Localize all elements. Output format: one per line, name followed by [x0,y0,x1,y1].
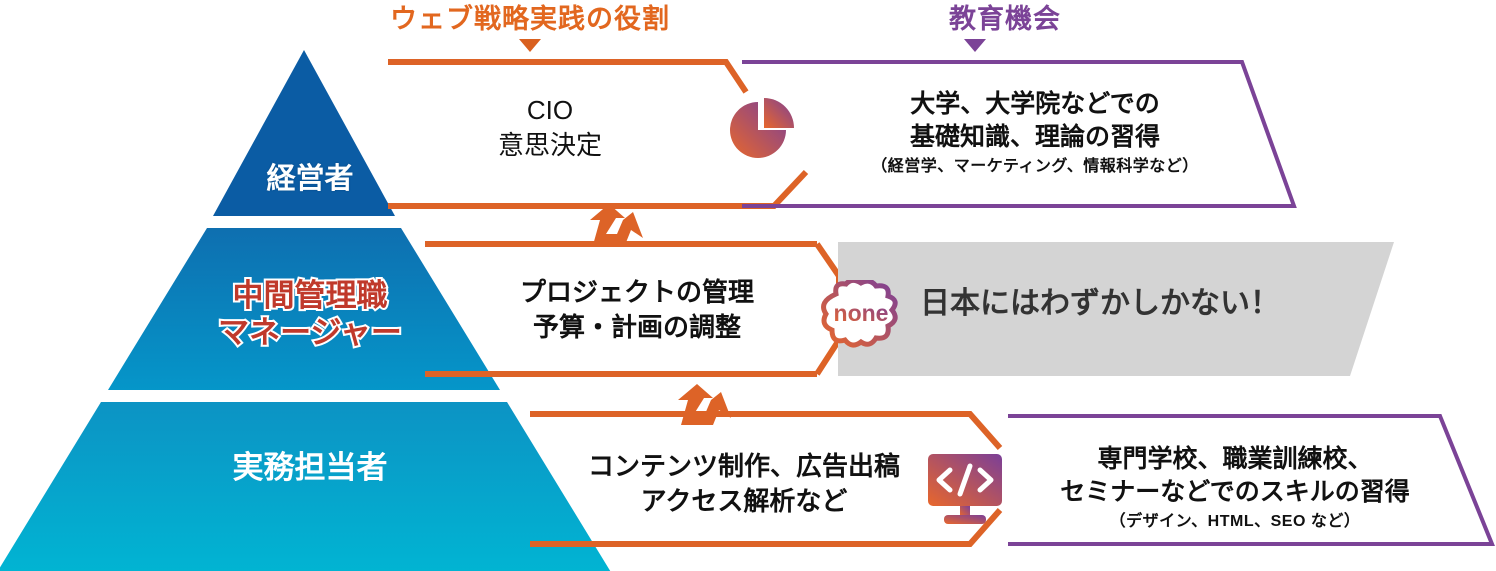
education-text-row-1-line1: 大学、大学院などでの [910,90,1160,118]
down-caret-icon-education [964,39,986,52]
education-note-row-1: （経営学、マーケティング、情報科学など） [820,157,1250,178]
none-cloud-icon: none [816,280,908,350]
education-note-row-3: （デザイン、HTML、SEO など） [1000,512,1470,533]
role-text-row-1-line2: 意思決定 [498,130,602,160]
code-monitor-icon [926,452,1004,526]
role-text-row-3-line2: アクセス解析など [641,486,848,516]
education-text-row-2: 日本にはわずかしかない！ [920,289,1280,319]
column-header-education: 教育機会 [880,6,1130,33]
pyramid-tier-middle-label-line1: 中間管理職 [233,278,388,313]
role-text-row-3-line1: コンテンツ制作、広告出稿 [588,451,900,481]
education-text-row-3-line2: セミナーなどでのスキルの習得 [1060,478,1410,506]
pyramid-tier-bottom-label: 実務担当者 [0,450,620,487]
role-text-row-2-line1: プロジェクトの管理 [520,277,754,307]
role-text-row-3: コンテンツ制作、広告出稿 アクセス解析など [548,449,940,519]
role-text-row-1: CIO 意思決定 [400,93,700,163]
pie-chart-icon [724,94,796,166]
education-text-row-3-line1: 専門学校、職業訓練校、 [1097,445,1372,473]
education-text-row-1: 大学、大学院などでの 基礎知識、理論の習得 （経営学、マーケティング、情報科学な… [820,88,1250,178]
svg-text:none: none [834,300,889,326]
pyramid-tier-middle-label-line2: マネージャー [218,315,402,350]
diagram-canvas: ウェブ戦略実践の役割 教育機会 経営者 中 [0,0,1496,571]
education-text-row-3: 専門学校、職業訓練校、 セミナーなどでのスキルの習得 （デザイン、HTML、SE… [1000,443,1470,533]
role-text-row-2-line2: 予算・計画の調整 [533,312,741,342]
role-text-row-2: プロジェクトの管理 予算・計画の調整 [472,275,802,345]
column-header-role: ウェブ戦略実践の役割 [360,6,700,33]
education-text-row-1-line2: 基礎知識、理論の習得 [910,123,1160,151]
role-text-row-1-line1: CIO [527,95,573,125]
